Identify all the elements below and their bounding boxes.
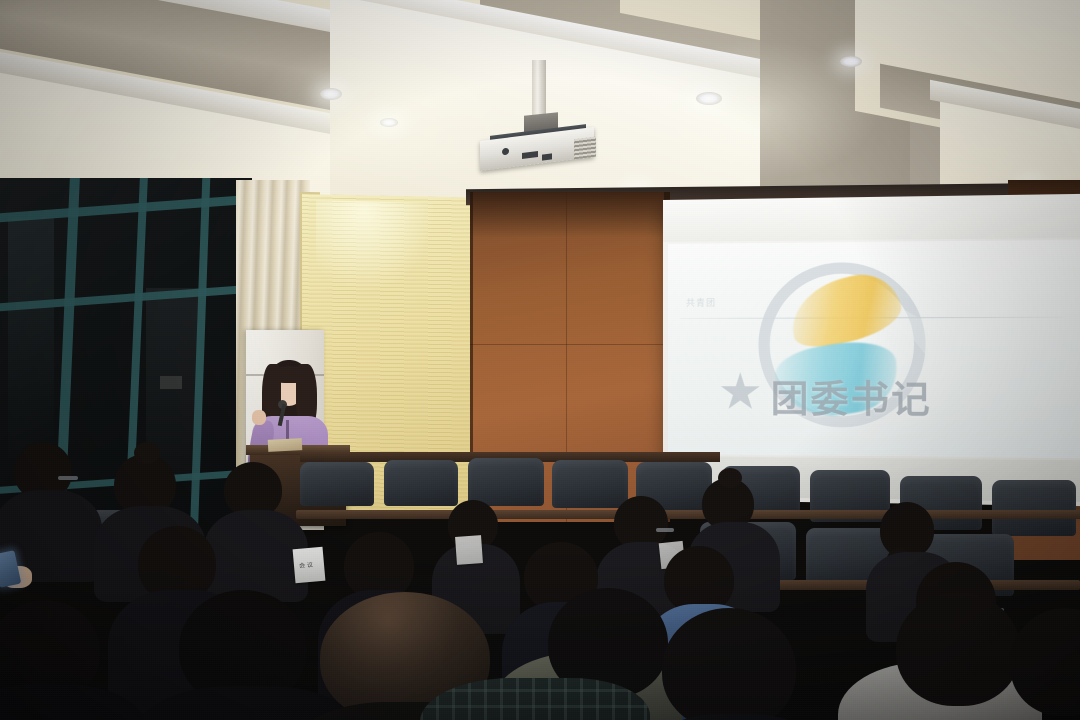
person-head — [896, 592, 1020, 706]
presenter-hand — [252, 410, 266, 425]
ceiling-downlight — [840, 56, 862, 67]
wall-sign-plate — [160, 376, 182, 389]
hair-bun — [718, 468, 742, 488]
hair-bun — [134, 442, 160, 464]
paper-booklet[interactable]: 会 议 — [293, 547, 326, 583]
wall-shadow — [470, 192, 670, 238]
slide-surface[interactable]: 共青团 团委书记 — [668, 240, 1080, 459]
eyeglasses — [58, 476, 78, 480]
person-head — [880, 502, 934, 558]
slide-title: 团委书记 — [771, 368, 932, 424]
person-head — [662, 608, 796, 720]
window-reflection — [8, 218, 54, 458]
window-mullion — [0, 195, 252, 223]
booklet-label: 会 议 — [299, 560, 314, 570]
projector-port — [542, 153, 552, 160]
auditorium-seat[interactable] — [468, 458, 544, 506]
auditorium-seat[interactable] — [300, 462, 374, 506]
auditorium-seat[interactable] — [552, 460, 628, 508]
wall-light-sheen — [316, 200, 436, 293]
ceiling-downlight — [696, 92, 722, 105]
ceiling-downlight — [380, 118, 398, 127]
auditorium-seat[interactable] — [992, 480, 1076, 536]
eyeglasses — [656, 528, 674, 532]
paper-booklet[interactable] — [455, 535, 483, 565]
audience-seating: 会 议 — [0, 440, 1080, 720]
slide-watermark-text: 共青团 — [686, 296, 716, 309]
ceiling-downlight — [320, 88, 342, 100]
ceiling-projector — [478, 60, 598, 168]
auditorium-photo: 共青团 团委书记 — [0, 0, 1080, 720]
panel-seam — [470, 344, 670, 345]
auditorium-seat[interactable] — [384, 460, 458, 506]
projector-vent — [574, 137, 596, 160]
seat-rail — [296, 510, 1080, 519]
screen-top-band — [663, 194, 1080, 242]
